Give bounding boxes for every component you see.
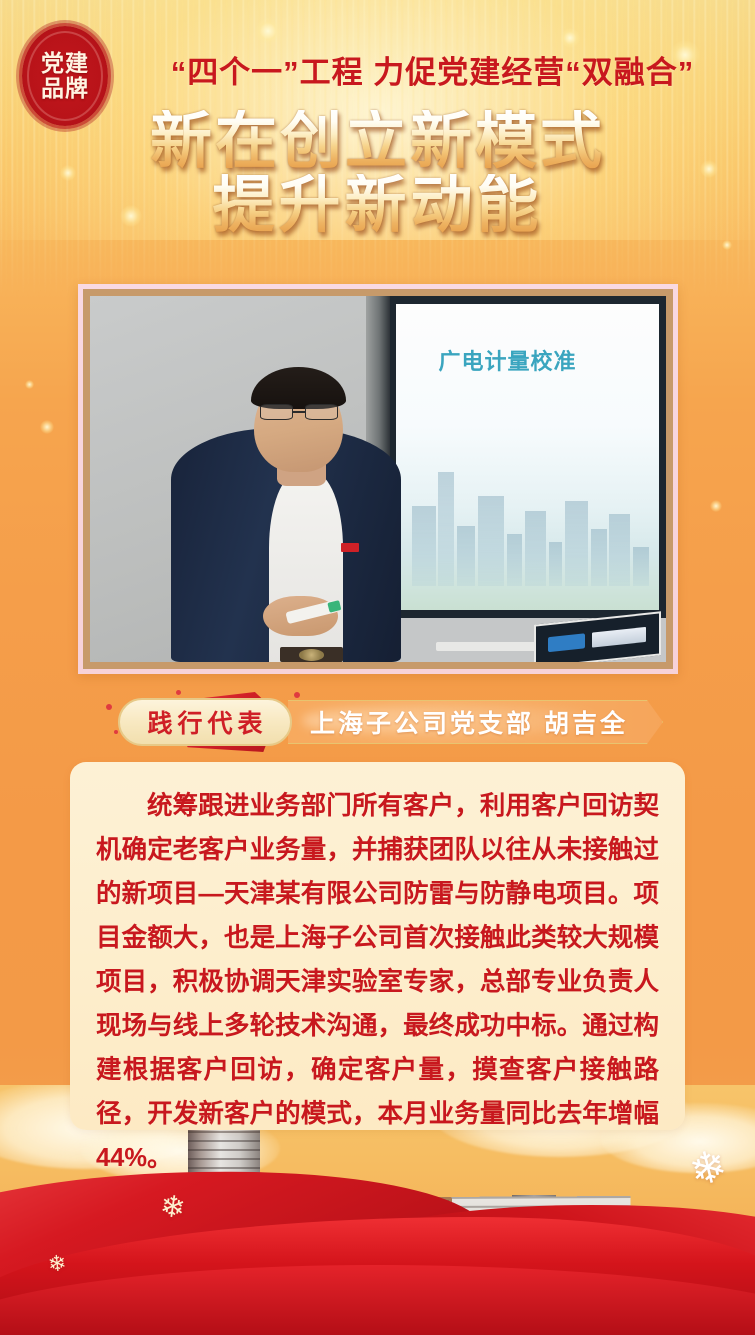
representative-label: 践行代表 [142, 704, 267, 740]
representative-name-plate: 上海子公司党支部 胡吉全 [288, 700, 663, 744]
slide-title: 广电计量校准 [438, 344, 576, 376]
page-title: 新在创立新模式 提升新动能 [0, 110, 755, 238]
story-body-text: 统筹跟进业务部门所有客户，利用客户回访契机确定老客户业务量，并捕获团队以往从未接… [96, 784, 659, 1180]
nameplate-logo [548, 633, 585, 652]
seal-label-line1: 党建 [41, 51, 89, 76]
representative-label-pill: 践行代表 [118, 698, 292, 746]
deco-dot [176, 690, 181, 695]
bokeh-dot [40, 420, 54, 434]
party-emblem-pin [341, 543, 359, 552]
headline: “四个一”工程 力促党建经营“双融合” [0, 47, 755, 92]
bokeh-dot [722, 240, 732, 250]
seal-label: 党建 品牌 [22, 26, 108, 126]
presenter-photo: 广电计量校准 [90, 296, 666, 662]
representative-banner: 上海子公司党支部 胡吉全 践行代表 [118, 698, 663, 746]
photo-frame: 广电计量校准 [78, 284, 678, 674]
nameplate-text [592, 627, 646, 648]
poster-root: 党建 品牌 “四个一”工程 力促党建经营“双融合” 新在创立新模式 提升新动能 … [0, 0, 755, 1335]
desk-nameplate [534, 611, 661, 662]
deco-dot [106, 704, 112, 710]
bokeh-dot [710, 500, 722, 512]
deco-dot [114, 730, 118, 734]
seal-label-line2: 品牌 [41, 76, 89, 101]
slide-cityscape [396, 457, 659, 586]
party-brand-seal: 党建 品牌 [22, 26, 108, 126]
deco-dot [294, 692, 300, 698]
slide-content: 广电计量校准 [396, 304, 659, 610]
page-title-line1: 新在创立新模式 [0, 110, 755, 174]
bokeh-dot [560, 28, 580, 48]
glasses-icon [260, 404, 337, 420]
photo-inner-border: 广电计量校准 [83, 289, 673, 669]
representative-name: 上海子公司党支部 胡吉全 [288, 704, 628, 740]
bokeh-dot [25, 380, 34, 389]
bokeh-dot [255, 18, 281, 44]
presenter-belt [280, 647, 343, 662]
story-card: 统筹跟进业务部门所有客户，利用客户回访契机确定老客户业务量，并捕获团队以往从未接… [70, 762, 685, 1130]
page-title-line2: 提升新动能 [0, 174, 755, 238]
projection-screen: 广电计量校准 [390, 296, 666, 618]
